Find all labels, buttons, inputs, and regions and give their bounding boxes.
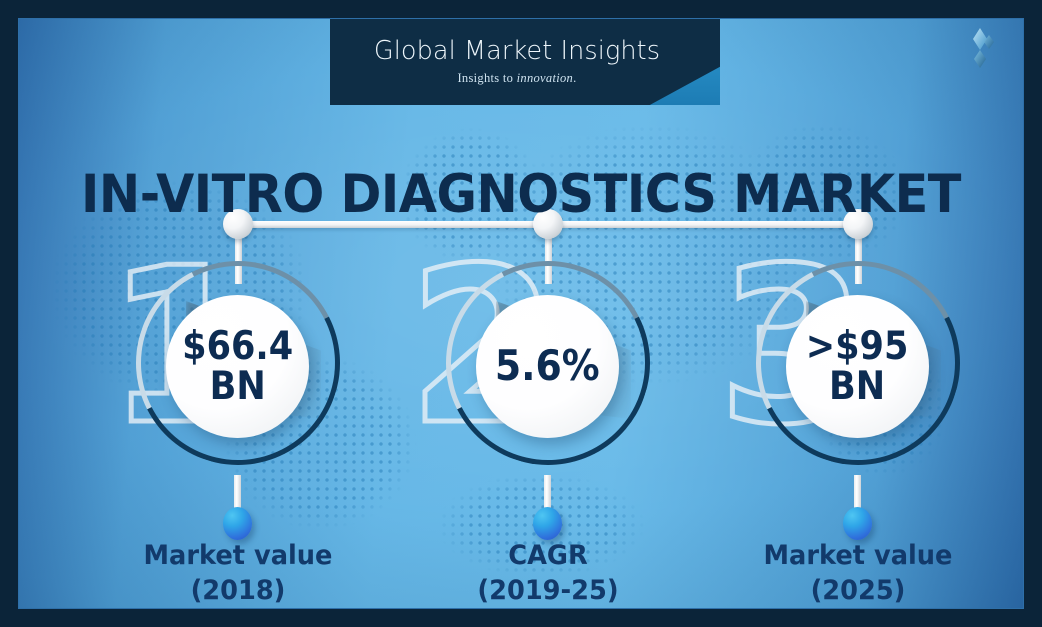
stat-node-2 [533,507,562,540]
tagline-prefix: Insights to [457,71,516,85]
infographic-root: Global Market Insights Insights to innov… [0,0,1042,627]
page-title: IN-VITRO DIAGNOSTICS MARKET [54,168,988,221]
brand-tagline: Insights to innovation. [457,71,576,86]
tagline-suffix: . [573,71,576,85]
stat-label-2: CAGR (2019-25) [415,539,681,608]
stat-disc-3: >$95 BN [786,295,929,438]
diamond-logo-icon [965,27,995,78]
infographic-canvas: Global Market Insights Insights to innov… [18,18,1024,609]
brand-name: Global Market Insights [374,39,660,65]
stat-label-3: Market value (2025) [725,539,991,608]
brand-logo[interactable]: Global Market Insights Insights to innov… [330,19,720,106]
stat-label-1: Market value (2018) [105,539,371,608]
tagline-emphasis: innovation [517,71,573,85]
stat-disc-1: $66.4 BN [166,295,309,438]
stat-node-3 [843,507,872,540]
stat-disc-2: 5.6% [476,295,619,438]
stat-node-1 [223,507,252,540]
stat-value-3: >$95 BN [806,327,909,407]
stat-value-2: 5.6% [495,345,600,388]
stat-value-1: $66.4 BN [182,327,293,407]
